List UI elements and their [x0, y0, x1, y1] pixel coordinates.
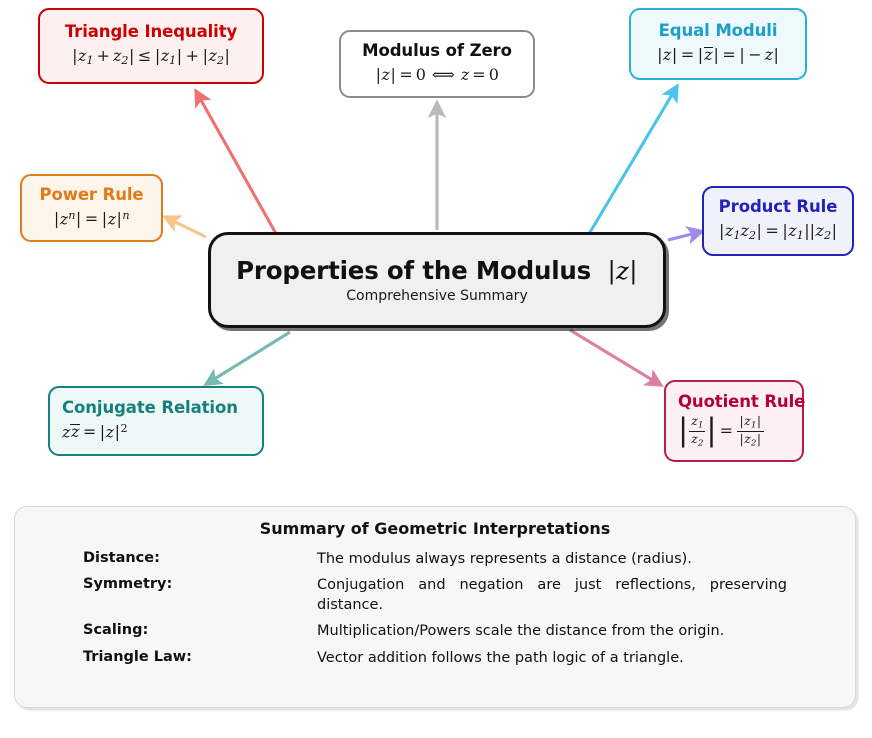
node-quotient-rule[interactable]: Quotient Rule |z1z2|=|z1||z2| — [664, 380, 804, 462]
node-formula: |z1z2|=|z1||z2| — [678, 414, 765, 449]
node-title: Modulus of Zero — [362, 42, 512, 61]
node-formula: |z1+z2|≤|z1|+|z2| — [72, 46, 231, 69]
node-title: Conjugate Relation — [62, 399, 238, 418]
node-title: Product Rule — [719, 198, 838, 217]
node-formula: |z1z2|=|z1||z2| — [719, 221, 838, 244]
arrow-to-power-rule — [167, 218, 206, 237]
node-power-rule[interactable]: Power Rule |zn|=|z|n — [20, 174, 163, 242]
summary-row-label: Scaling: — [39, 622, 317, 638]
arrow-to-quotient-rule — [570, 330, 659, 384]
node-conjugate-relation[interactable]: Conjugate Relation zz=|z|2 — [48, 386, 264, 456]
node-title: Quotient Rule — [678, 393, 805, 412]
summary-row-label: Distance: — [39, 550, 317, 566]
node-triangle-inequality[interactable]: Triangle Inequality |z1+z2|≤|z1|+|z2| — [38, 8, 264, 84]
summary-row: Triangle Law: Vector addition follows th… — [39, 649, 831, 668]
node-formula: |zn|=|z|n — [53, 209, 129, 230]
node-title: Power Rule — [39, 186, 143, 205]
summary-row-label: Symmetry: — [39, 576, 317, 592]
summary-row: Distance: The modulus always represents … — [39, 550, 831, 569]
center-subtitle: Comprehensive Summary — [346, 288, 527, 304]
diagram-canvas: Triangle Inequality |z1+z2|≤|z1|+|z2| Mo… — [0, 0, 872, 738]
summary-row: Symmetry: Conjugation and negation are j… — [39, 576, 831, 615]
summary-panel: Summary of Geometric Interpretations Dis… — [14, 506, 856, 708]
center-title: Properties of the Modulus |z| — [236, 256, 638, 285]
arrow-to-conjugate-relation — [208, 332, 290, 383]
summary-title: Summary of Geometric Interpretations — [39, 519, 831, 538]
center-node[interactable]: Properties of the Modulus |z| Comprehens… — [208, 232, 666, 328]
summary-row-desc: The modulus always represents a distance… — [317, 550, 692, 569]
summary-row-desc: Multiplication/Powers scale the distance… — [317, 622, 724, 641]
node-formula: zz=|z|2 — [62, 422, 128, 443]
node-modulus-of-zero[interactable]: Modulus of Zero |z|=0⟺z=0 — [339, 30, 535, 98]
node-formula: |z|=|z|=|−z| — [657, 45, 780, 66]
summary-row-desc: Conjugation and negation are just reflec… — [317, 576, 787, 615]
summary-row: Scaling: Multiplication/Powers scale the… — [39, 622, 831, 641]
node-formula: |z|=0⟺z=0 — [375, 65, 499, 86]
node-product-rule[interactable]: Product Rule |z1z2|=|z1||z2| — [702, 186, 854, 256]
node-title: Equal Moduli — [659, 22, 778, 41]
arrow-to-product-rule — [668, 232, 700, 240]
node-equal-moduli[interactable]: Equal Moduli |z|=|z|=|−z| — [629, 8, 807, 80]
summary-row-label: Triangle Law: — [39, 649, 317, 665]
arrow-to-equal-moduli — [586, 88, 676, 239]
summary-row-desc: Vector addition follows the path logic o… — [317, 649, 684, 668]
arrow-to-triangle-inequality — [197, 93, 279, 239]
node-title: Triangle Inequality — [65, 23, 237, 42]
